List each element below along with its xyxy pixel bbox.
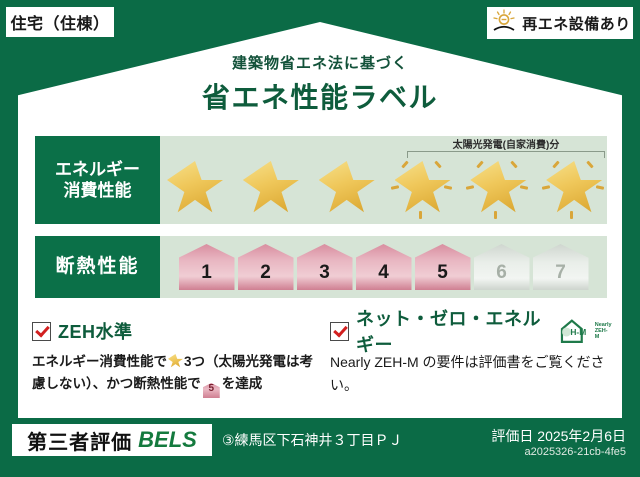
sparkle-icon: [390, 185, 398, 190]
insulation-grade-badge-3: 3: [297, 244, 353, 290]
bels-jp-label: 第三者評価: [27, 426, 132, 455]
evaluation-date-value: 2025年2月6日: [537, 428, 626, 444]
star-shape: [546, 161, 602, 215]
zeh-m-logo-caption: Nearly ZEH-M: [595, 322, 612, 341]
insulation-grade-badge-6: 6: [474, 244, 530, 290]
star-icon: [160, 155, 228, 221]
bels-en-label: BELS: [138, 427, 197, 453]
zeh-m-logo: H-M Nearly ZEH-M: [559, 318, 612, 344]
sun-icon: [491, 9, 517, 37]
insulation-grade-badge-1: 1: [179, 244, 235, 290]
zeh-standard-body: エネルギー消費性能で3つ（太陽光発電は考慮しない）、かつ断熱性能で5を達成: [32, 351, 314, 398]
energy-label-line2: 消費性能: [64, 180, 132, 201]
insulation-grade-badge-5: 5: [415, 244, 471, 290]
evaluation-id: a2025326-21cb-4fe5: [524, 446, 626, 458]
sparkle-icon: [552, 161, 560, 169]
star-icon: [312, 155, 380, 221]
renewable-equipment-label: 再エネ設備あり: [522, 13, 631, 34]
star-icon: [236, 155, 304, 221]
net-zero-energy-section: ネット・ゼロ・エネルギー H-M Nearly ZEH-M Nearly ZEH…: [330, 318, 612, 396]
check-icon: [32, 322, 51, 341]
page-title: 省エネ性能ラベル: [0, 76, 640, 116]
renewable-equipment-tag: 再エネ設備あり: [487, 7, 633, 39]
energy-performance-row: エネルギー 消費性能 太陽光発電(自家消費)分: [35, 136, 607, 224]
sparkle-icon: [510, 161, 518, 169]
energy-label-line1: エネルギー: [55, 159, 140, 180]
zeh-body-part3: を達成: [222, 376, 263, 391]
solar-generation-note: 太陽光発電(自家消費)分: [406, 136, 606, 151]
zeh-m-caption-line1: Nearly: [595, 322, 612, 328]
check-icon: [330, 322, 349, 341]
zeh-body-part1: エネルギー消費性能で: [32, 354, 167, 369]
svg-text:H-M: H-M: [571, 327, 587, 337]
housing-type-label: 住宅（住棟）: [10, 10, 109, 34]
solar-star-icon: [539, 155, 607, 221]
evaluation-date: 評価日 2025年2月6日: [491, 426, 626, 446]
housing-type-tag: 住宅（住棟）: [6, 7, 114, 37]
energy-performance-label: エネルギー 消費性能: [35, 136, 160, 224]
insulation-grade-badge-2: 2: [238, 244, 294, 290]
sparkle-icon: [520, 185, 528, 190]
sparkle-icon: [586, 161, 594, 169]
insulation-grade-inline-badge: 5: [203, 383, 220, 398]
star-shape: [395, 161, 451, 215]
bels-badge: 第三者評価 BELS: [12, 424, 212, 456]
zeh-standard-title: ZEH水準: [58, 318, 133, 344]
insulation-performance-label: 断熱性能: [35, 236, 160, 298]
sparkle-icon: [494, 211, 497, 219]
zeh-m-caption-line2: ZEH-M: [595, 328, 608, 340]
energy-star-rating: [160, 154, 607, 222]
sparkle-icon: [401, 161, 409, 169]
star-shape: [243, 161, 299, 215]
sparkle-icon: [542, 185, 550, 190]
sparkle-icon: [419, 211, 422, 219]
sparkle-icon: [466, 185, 474, 190]
sparkle-icon: [435, 161, 443, 169]
property-address: ③練馬区下石神井３丁目ＰＪ: [222, 430, 403, 450]
star-shape: [167, 161, 223, 215]
insulation-label-text: 断熱性能: [55, 255, 139, 279]
footer: 第三者評価 BELS ③練馬区下石神井３丁目ＰＪ 評価日 2025年2月6日 a…: [0, 424, 640, 477]
net-zero-energy-body: Nearly ZEH-M の要件は評価書をご覧ください。: [330, 351, 612, 396]
insulation-performance-body: 1234567: [160, 236, 607, 298]
insulation-performance-row: 断熱性能 1234567: [35, 236, 607, 298]
insulation-grade-badge-7: 7: [533, 244, 589, 290]
sparkle-icon: [570, 211, 573, 219]
energy-performance-body: 太陽光発電(自家消費)分: [160, 136, 607, 224]
zeh-standard-head: ZEH水準: [32, 318, 314, 344]
zeh-standard-section: ZEH水準 エネルギー消費性能で3つ（太陽光発電は考慮しない）、かつ断熱性能で5…: [32, 318, 314, 398]
net-zero-energy-head: ネット・ゼロ・エネルギー H-M Nearly ZEH-M: [330, 318, 612, 344]
label-subtitle: 建築物省エネ法に基づく: [0, 52, 640, 73]
sparkle-icon: [596, 185, 604, 190]
insulation-grade-badge-4: 4: [356, 244, 412, 290]
sparkle-icon: [444, 185, 452, 190]
star-icon: [168, 354, 183, 368]
solar-star-icon: [463, 155, 531, 221]
energy-label-root: 住宅（住棟） 再エネ設備あり 建築物省エネ法に基づく 省エネ性能ラベル: [0, 0, 640, 477]
sparkle-icon: [477, 161, 485, 169]
house-icon: H-M: [559, 318, 593, 344]
star-shape: [319, 161, 375, 215]
evaluation-date-label: 評価日: [491, 428, 533, 444]
net-zero-energy-title: ネット・ゼロ・エネルギー: [356, 305, 548, 357]
star-shape: [470, 161, 526, 215]
insulation-grade-badges: 1234567: [160, 242, 607, 292]
solar-star-icon: [388, 155, 456, 221]
